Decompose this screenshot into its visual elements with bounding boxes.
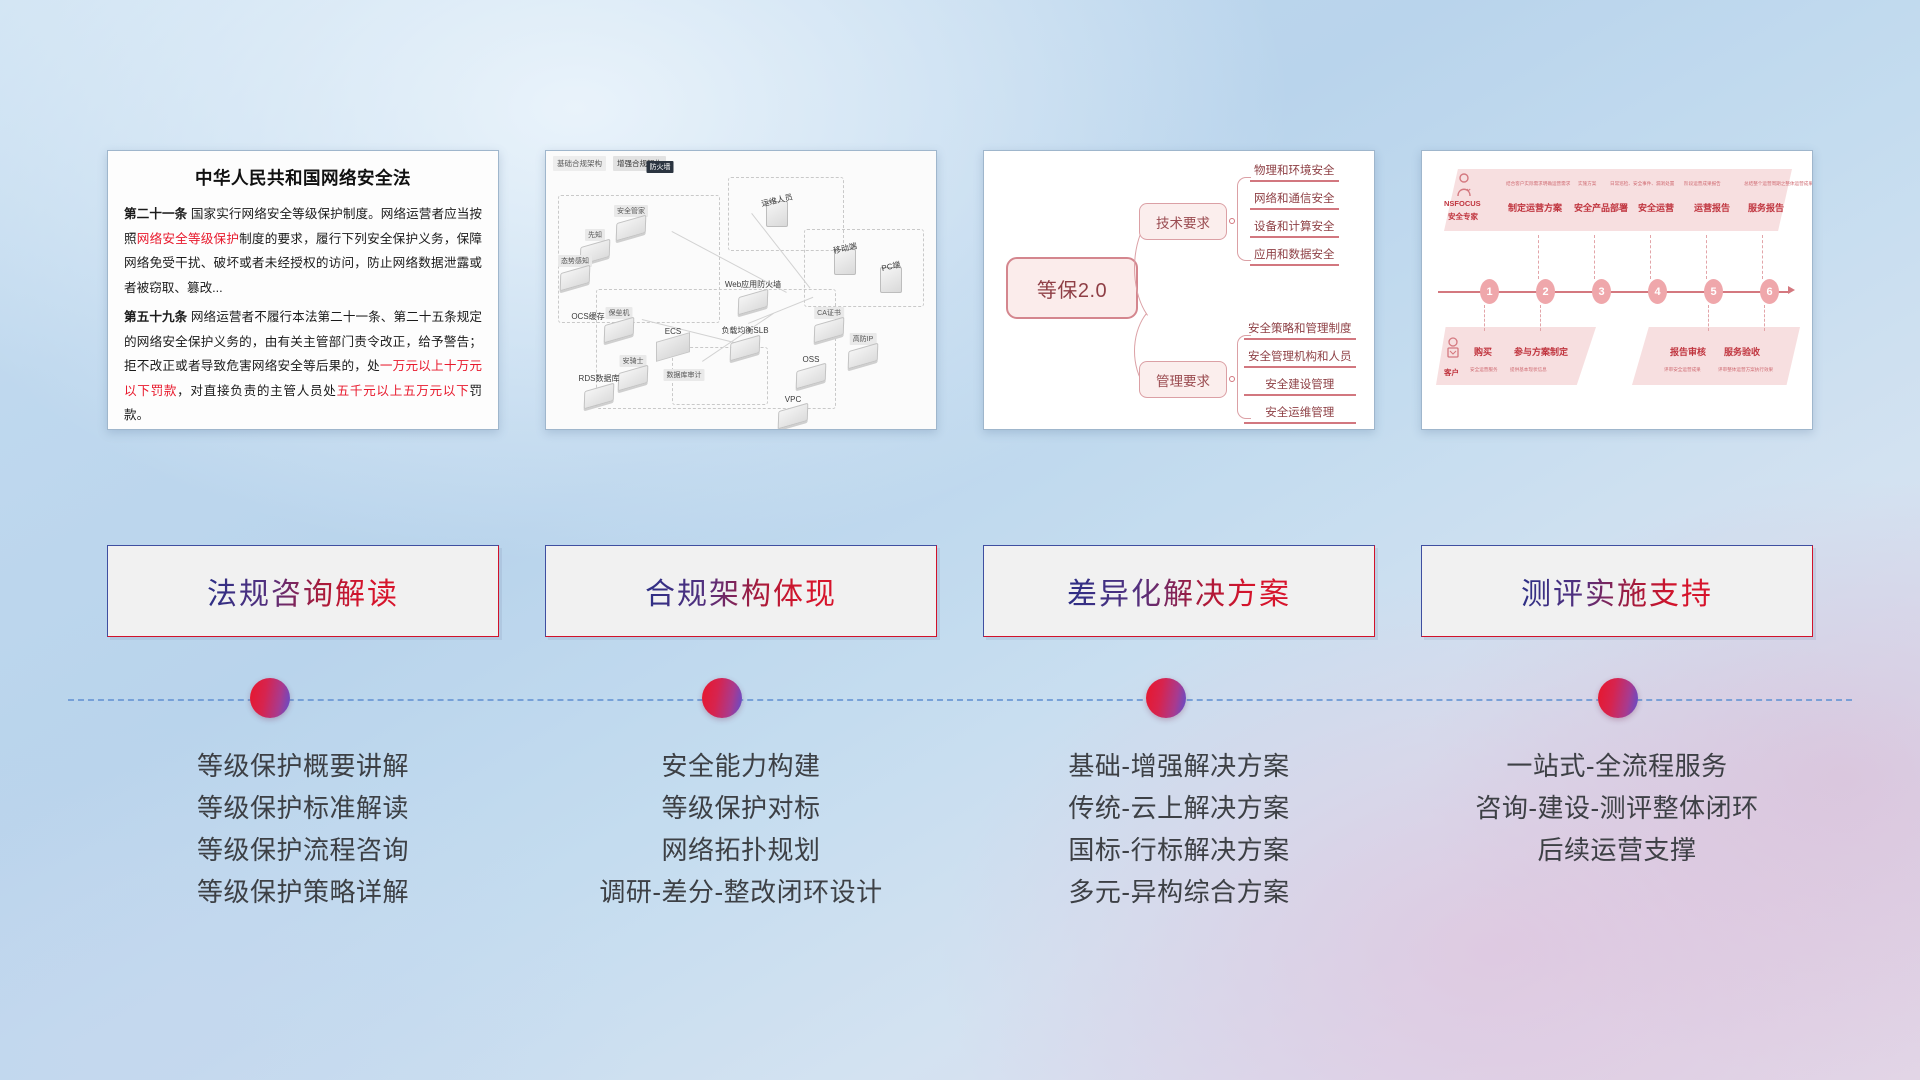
nsfocus-top-step: 安全产品部署 [1574, 201, 1628, 214]
mindmap-collapse-dot-tech[interactable] [1229, 218, 1235, 224]
law-article-21-highlight: 网络安全等级保护 [137, 232, 239, 246]
arch-node-label: OCS缓存 [568, 310, 607, 323]
nsfocus-bottom-step: 购买 [1474, 345, 1492, 358]
nsfocus-brand-sub: 安全专家 [1448, 211, 1478, 222]
nsfocus-top-sub: 总结整个运营周期之整体运营成果 [1744, 181, 1813, 187]
law-article-59-highlight-2: 五千元以上五万元以下 [337, 384, 470, 398]
mindmap-leaf: 物理和环境安全 [1250, 161, 1339, 182]
arch-node-label: RDS数据库 [576, 372, 623, 385]
mindmap-branch-technical: 技术要求 [1139, 203, 1227, 240]
label-text: 合规架构体现 [645, 569, 837, 613]
mindmap-leaf: 安全建设管理 [1244, 375, 1356, 396]
mindmap-leaf: 网络和通信安全 [1250, 189, 1339, 210]
mindmap-collapse-dot-mgmt[interactable] [1229, 376, 1235, 382]
arch-node-anti-ddos-ip: 高防IP [848, 347, 878, 365]
list-item: 等级保护策略详解 [107, 871, 499, 913]
nsfocus-dash [1708, 305, 1709, 331]
list-item: 安全能力构建 [545, 745, 937, 787]
arch-node-vpc: VPC [778, 407, 808, 425]
list-item: 等级保护流程咨询 [107, 829, 499, 871]
timeline-dot-1[interactable] [250, 678, 290, 718]
list-item: 咨询-建设-测评整体闭环 [1421, 787, 1813, 829]
law-article-59-text-b: ，对直接负责的主管人员处 [177, 384, 336, 398]
label-box-differentiated-solution[interactable]: 差异化解决方案 [983, 545, 1375, 637]
arch-node-oss: OSS [796, 367, 826, 385]
mindmap-leaf: 应用和数据安全 [1250, 245, 1339, 266]
nsfocus-bottom-sub: 安全运营服务 [1470, 367, 1498, 373]
arch-node-mobile: 移动端 [834, 249, 856, 275]
arch-node-waf: Web应用防火墙 [738, 293, 768, 311]
list-item: 国标-行标解决方案 [983, 829, 1375, 871]
law-article-59: 第五十九条 网络运营者不履行本法第二十一条、第二十五条规定的网络安全保护义务的，… [124, 305, 482, 428]
arch-node-ecs: ECS [656, 337, 690, 357]
list-item: 等级保护标准解读 [107, 787, 499, 829]
timeline-dot-2[interactable] [702, 678, 742, 718]
arch-node-label: VPC [782, 394, 804, 405]
list-item: 传统-云上解决方案 [983, 787, 1375, 829]
arch-node-bastion-host: 保垒机 [604, 321, 634, 339]
list-item: 一站式-全流程服务 [1421, 745, 1813, 787]
list-column-evaluation: 一站式-全流程服务 咨询-建设-测评整体闭环 后续运营支撑 [1421, 745, 1813, 913]
nsfocus-bottom-sub: 评审安全运营成果 [1664, 367, 1701, 373]
customer-person-icon [1444, 337, 1462, 363]
list-item: 网络拓扑规划 [545, 829, 937, 871]
card-nsfocus-timeline[interactable]: NSFOCUS 安全专家 结合客户实际需求明确运营需求 实施方案 日常巡检、安全… [1421, 150, 1813, 430]
nsfocus-top-step: 安全运营 [1638, 201, 1674, 214]
nsfocus-bottom-sub: 评审整体运营方案执行效果 [1718, 367, 1773, 373]
list-item: 等级保护对标 [545, 787, 937, 829]
expert-person-icon [1454, 173, 1474, 197]
list-item: 后续运营支撑 [1421, 829, 1813, 871]
arch-node-label: 防火墙 [647, 161, 674, 173]
arch-node-label: 先知 [585, 229, 605, 241]
arch-node-ops-personnel: 运维人员 [766, 201, 788, 227]
arch-node-anqishi: 安骑士 [618, 369, 648, 387]
arch-node-label: OSS [800, 354, 823, 365]
list-column-architecture: 安全能力构建 等级保护对标 网络拓扑规划 调研-差分-整改闭环设计 [545, 745, 937, 913]
nsfocus-customer-label: 客户 [1444, 367, 1459, 378]
law-article-21: 第二十一条 国家实行网络安全等级保护制度。网络运营者应当按照网络安全等级保护制度… [124, 202, 482, 300]
nsfocus-dash [1764, 305, 1765, 331]
nsfocus-dash [1484, 305, 1485, 331]
nsfocus-top-sub: 结合客户实际需求明确运营需求 [1506, 181, 1570, 187]
bottom-lists-row: 等级保护概要讲解 等级保护标准解读 等级保护流程咨询 等级保护策略详解 安全能力… [0, 745, 1920, 913]
label-box-regulation-consulting[interactable]: 法规咨询解读 [107, 545, 499, 637]
nsfocus-brand: NSFOCUS [1444, 199, 1481, 208]
law-article-59-label: 第五十九条 [124, 310, 187, 324]
nsfocus-bottom-step: 服务验收 [1724, 345, 1760, 358]
mindmap-leaf: 安全管理机构和人员 [1244, 347, 1356, 368]
arch-node-label: 数据库审计 [664, 369, 705, 381]
nsfocus-dash [1594, 235, 1595, 279]
arch-node-slb: 负载均衡SLB [730, 339, 760, 357]
card-law-document[interactable]: 中华人民共和国网络安全法 第二十一条 国家实行网络安全等级保护制度。网络运营者应… [107, 150, 499, 430]
nsfocus-step-node[interactable]: 5 [1704, 279, 1723, 304]
nsfocus-step-node[interactable]: 1 [1480, 279, 1499, 304]
arch-node-label: 负载均衡SLB [718, 324, 771, 337]
nsfocus-top-step: 运营报告 [1694, 201, 1730, 214]
label-text: 法规咨询解读 [207, 569, 399, 613]
arch-node-security-butler: 安全管家 [616, 219, 646, 237]
label-box-compliance-architecture[interactable]: 合规架构体现 [545, 545, 937, 637]
arch-node-label: Web应用防火墙 [722, 278, 784, 291]
mindmap-root: 等保2.0 [1006, 257, 1138, 319]
label-box-evaluation-support[interactable]: 测评实施支持 [1421, 545, 1813, 637]
nsfocus-dash [1540, 305, 1541, 331]
mindmap-leaf: 安全策略和管理制度 [1244, 319, 1356, 340]
nsfocus-step-node[interactable]: 6 [1760, 279, 1779, 304]
nsfocus-axis-arrow-icon [1788, 286, 1795, 294]
mindmap-leaf: 设备和计算安全 [1250, 217, 1339, 238]
label-boxes-row: 法规咨询解读 合规架构体现 差异化解决方案 测评实施支持 [0, 545, 1920, 637]
nsfocus-bottom-sub: 提供基本现状信息 [1510, 367, 1547, 373]
arch-tab-basic[interactable]: 基础合规架构 [553, 156, 606, 171]
list-item: 基础-增强解决方案 [983, 745, 1375, 787]
list-item: 等级保护概要讲解 [107, 745, 499, 787]
timeline-dot-4[interactable] [1598, 678, 1638, 718]
nsfocus-top-band [1444, 169, 1792, 231]
nsfocus-step-node[interactable]: 3 [1592, 279, 1611, 304]
card-architecture-diagram[interactable]: 基础合规架构 增强合规架构 防火墙 安全管家 先知 态势感知 [545, 150, 937, 430]
list-column-regulation: 等级保护概要讲解 等级保护标准解读 等级保护流程咨询 等级保护策略详解 [107, 745, 499, 913]
label-text: 差异化解决方案 [1067, 569, 1291, 613]
list-item: 调研-差分-整改闭环设计 [545, 871, 937, 913]
nsfocus-dash [1650, 235, 1651, 279]
arch-node-ca-cert: CA证书 [814, 321, 844, 339]
nsfocus-bottom-band-right [1632, 327, 1800, 385]
mindmap-leaves-technical: 物理和环境安全 网络和通信安全 设备和计算安全 应用和数据安全 [1250, 161, 1339, 273]
arch-node-pc: PC端 [880, 267, 902, 293]
list-column-solutions: 基础-增强解决方案 传统-云上解决方案 国标-行标解决方案 多元-异构综合方案 [983, 745, 1375, 913]
nsfocus-top-step: 制定运营方案 [1508, 201, 1562, 214]
mindmap-branch-management: 管理要求 [1139, 361, 1227, 398]
nsfocus-top-sub: 阶段运营成果报告 [1684, 181, 1721, 187]
mindmap-leaf: 安全运维管理 [1244, 403, 1356, 424]
card-mindmap-dengbao[interactable]: 等保2.0 技术要求 管理要求 物理和环境安全 网络和通信安全 设备和计算安全 … [983, 150, 1375, 430]
nsfocus-dash [1762, 235, 1763, 279]
law-title: 中华人民共和国网络安全法 [124, 165, 482, 190]
cards-row: 中华人民共和国网络安全法 第二十一条 国家实行网络安全等级保护制度。网络运营者应… [0, 150, 1920, 430]
nsfocus-step-node[interactable]: 2 [1536, 279, 1555, 304]
label-text: 测评实施支持 [1521, 569, 1713, 613]
nsfocus-top-step: 服务报告 [1748, 201, 1784, 214]
nsfocus-step-node[interactable]: 4 [1648, 279, 1667, 304]
nsfocus-bottom-step: 参与方案制定 [1514, 345, 1568, 358]
nsfocus-top-sub: 实施方案 [1578, 181, 1596, 187]
list-item: 多元-异构综合方案 [983, 871, 1375, 913]
nsfocus-dash [1538, 235, 1539, 279]
timeline-dots [0, 678, 1920, 722]
nsfocus-bottom-step: 报告审核 [1670, 345, 1706, 358]
timeline-dot-3[interactable] [1146, 678, 1186, 718]
nsfocus-dash [1706, 235, 1707, 279]
law-article-21-label: 第二十一条 [124, 207, 187, 221]
architecture-canvas: 防火墙 安全管家 先知 态势感知 保垒机 运维人员 移动端 PC端 [552, 171, 930, 423]
mindmap-leaves-management: 安全策略和管理制度 安全管理机构和人员 安全建设管理 安全运维管理 [1244, 319, 1356, 430]
arch-node-situational-awareness: 态势感知 [560, 269, 590, 287]
mindmap-bracket-tech [1237, 177, 1251, 261]
nsfocus-top-sub: 日常巡检、安全事件、漏洞处置 [1610, 181, 1674, 187]
arch-node-rds: RDS数据库 [584, 387, 614, 405]
